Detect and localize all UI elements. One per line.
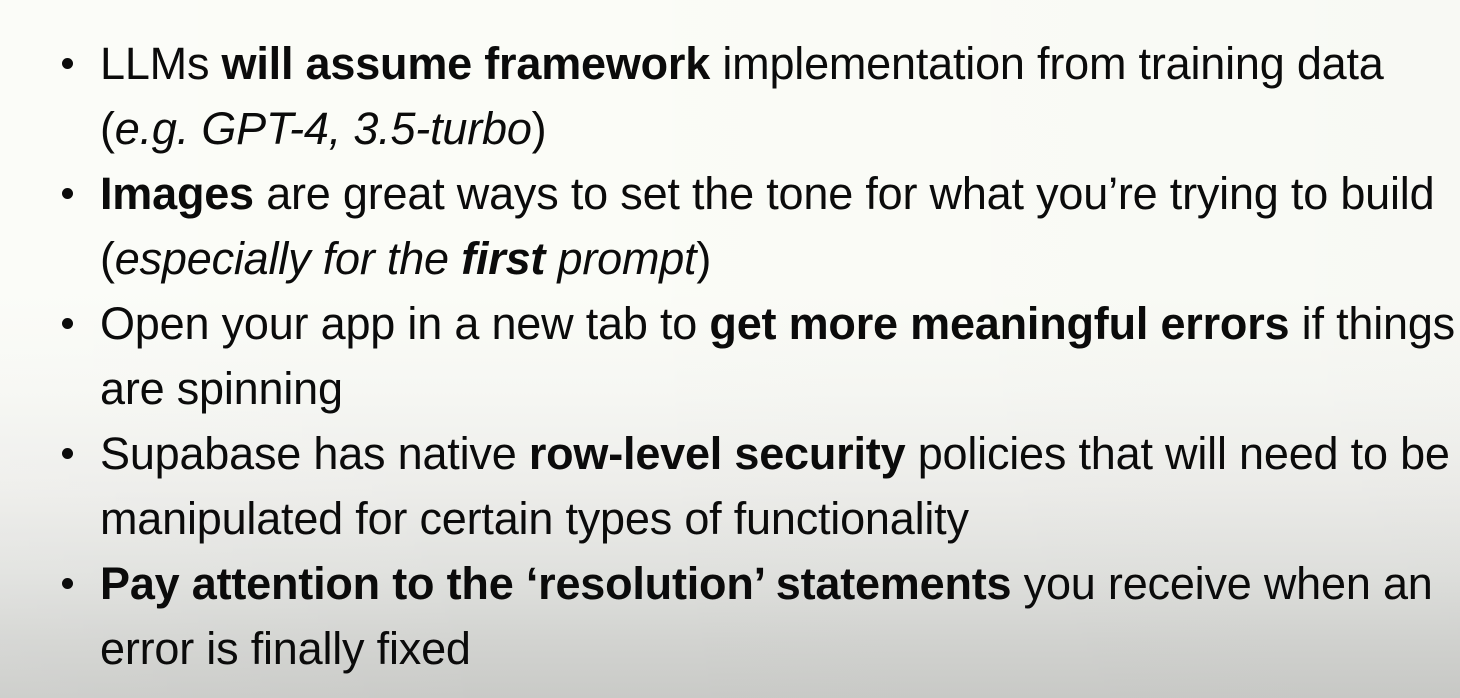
bullet-point-icon [62,578,73,589]
presentation-slide: LLMs will assume framework implementatio… [0,0,1460,698]
bullet-point-icon [62,448,73,459]
list-item: LLMs will assume framework implementatio… [0,31,1460,161]
bullet-text: Supabase has native row-level security p… [100,428,1450,544]
bullet-text: Images are great ways to set the tone fo… [100,168,1434,284]
bullet-point-icon [62,58,73,69]
bullet-point-icon [62,188,73,199]
bullet-point-icon [62,318,73,329]
list-item: Open your app in a new tab to get more m… [0,291,1460,421]
bullet-text: LLMs will assume framework implementatio… [100,38,1384,154]
list-item: Pay attention to the ‘resolution’ statem… [0,551,1460,681]
list-item: Images are great ways to set the tone fo… [0,161,1460,291]
bullet-list: LLMs will assume framework implementatio… [0,0,1460,681]
bullet-text: Pay attention to the ‘resolution’ statem… [100,558,1433,674]
list-item: Supabase has native row-level security p… [0,421,1460,551]
bullet-text: Open your app in a new tab to get more m… [100,298,1455,414]
